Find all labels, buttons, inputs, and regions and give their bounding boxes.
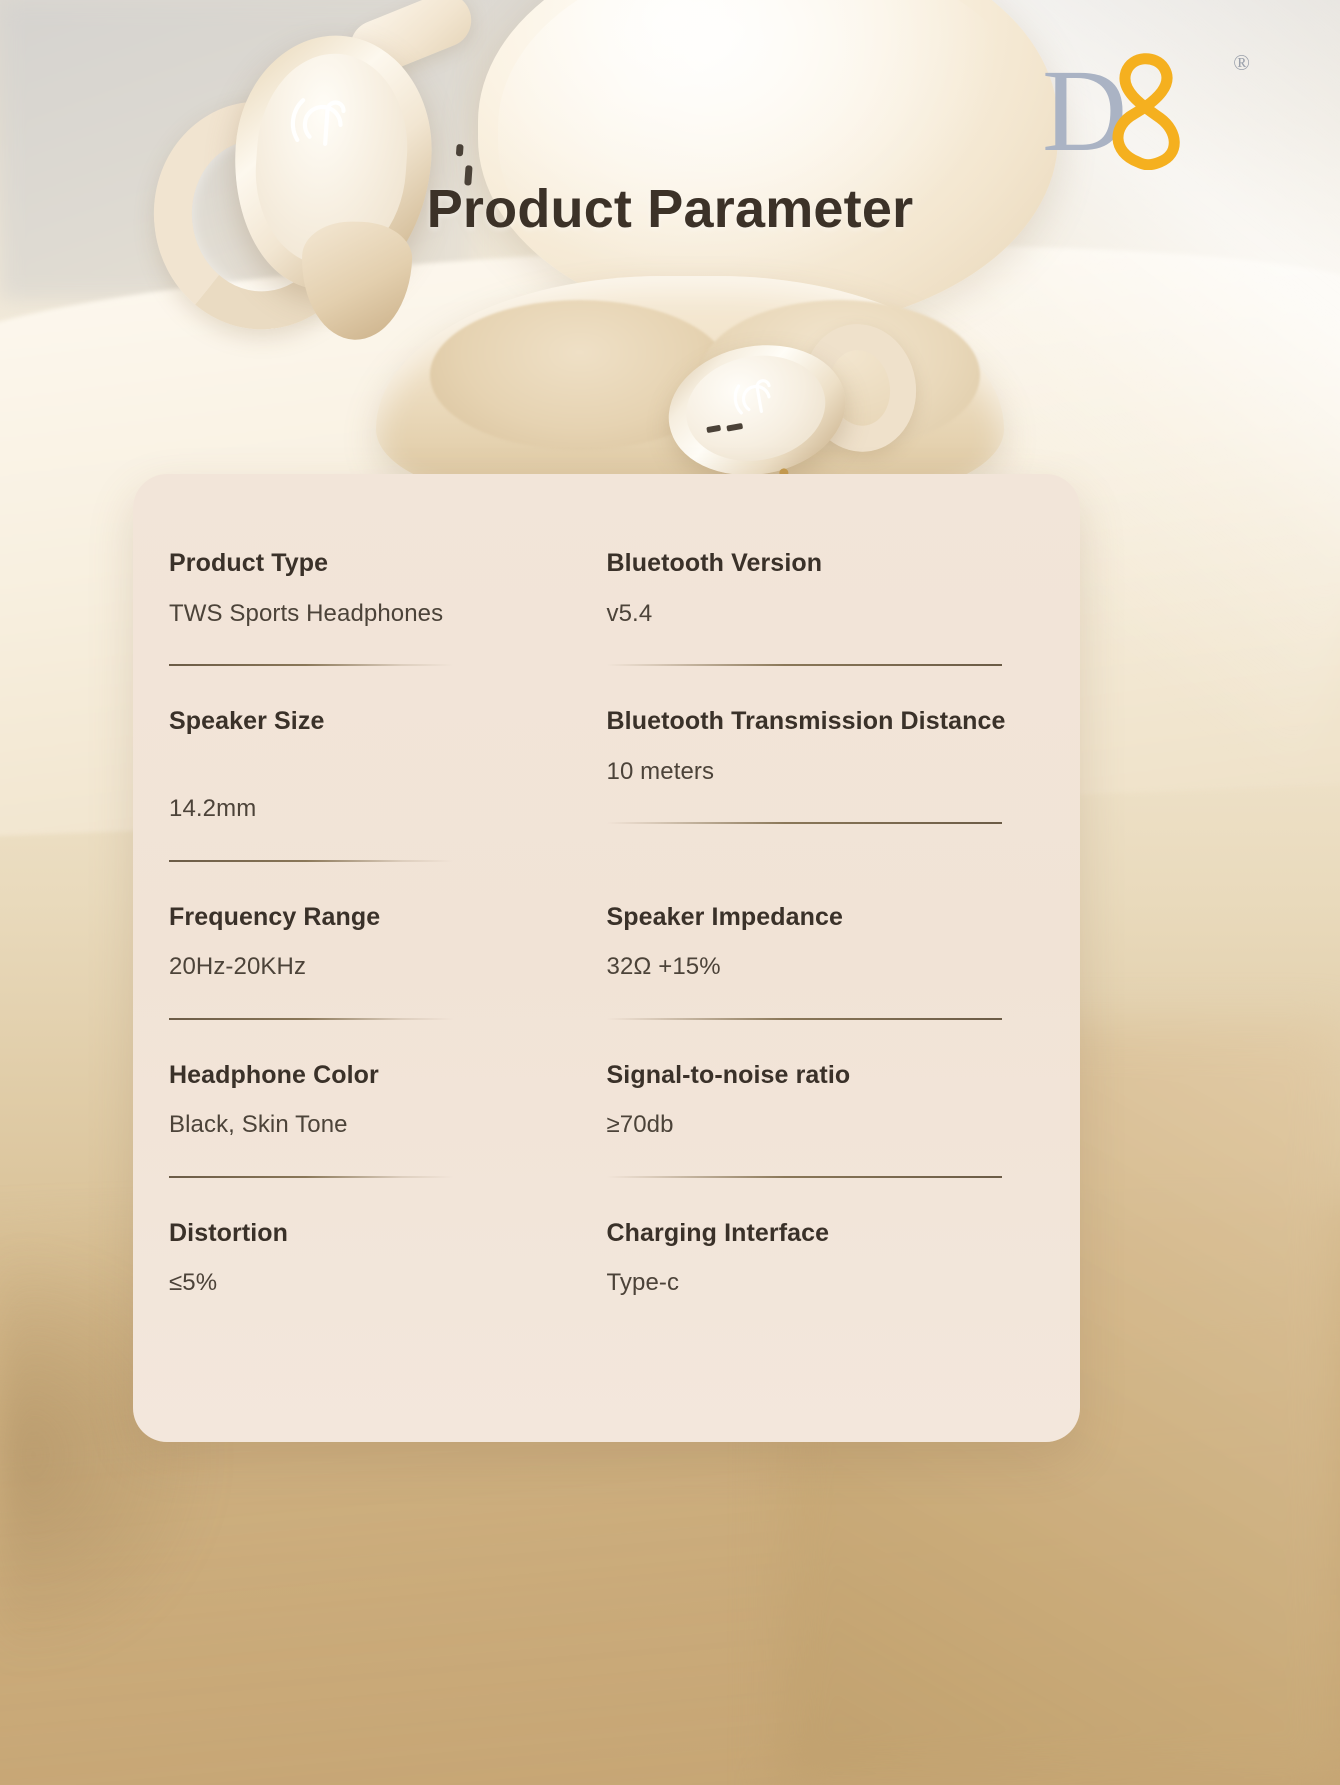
spec-value: 10 meters <box>607 755 1011 789</box>
spec-label: Speaker Size <box>169 704 573 776</box>
spec-label: Product Type <box>169 546 573 581</box>
spec-value: ≥70db <box>607 1108 1011 1142</box>
spec-cell-bluetooth-version: Bluetooth Version v5.4 <box>607 546 1045 704</box>
spec-label: Signal-to-noise ratio <box>607 1058 1011 1093</box>
spec-cell-headphone-color: Headphone Color Black, Skin Tone <box>169 1058 607 1216</box>
spec-row: Distortion ≤5% Charging Interface Type-c <box>169 1216 1044 1300</box>
specification-card: Product Type TWS Sports Headphones Bluet… <box>133 474 1080 1442</box>
spec-cell-frequency-range: Frequency Range 20Hz-20KHz <box>169 900 607 1058</box>
spec-label: Charging Interface <box>607 1216 1011 1251</box>
earbud-mic-hole <box>456 144 464 156</box>
sound-waves-icon <box>723 363 793 423</box>
row-separator <box>607 664 1003 666</box>
spec-value: TWS Sports Headphones <box>169 597 573 631</box>
spec-row: Speaker Size 14.2mm Bluetooth Transmissi… <box>169 704 1044 900</box>
spec-value: v5.4 <box>607 597 1011 631</box>
spec-value: 20Hz-20KHz <box>169 950 573 984</box>
spec-cell-charging-interface: Charging Interface Type-c <box>607 1216 1045 1300</box>
spec-cell-signal-to-noise-ratio: Signal-to-noise ratio ≥70db <box>607 1058 1045 1216</box>
spec-label: Bluetooth Transmission Distance <box>607 704 1011 739</box>
spec-cell-distortion: Distortion ≤5% <box>169 1216 607 1300</box>
brand-logo-d8: D ® <box>1042 40 1222 170</box>
svg-text:D: D <box>1042 45 1127 170</box>
spec-label: Distortion <box>169 1216 573 1251</box>
row-separator <box>169 1018 453 1020</box>
spec-label: Frequency Range <box>169 900 573 935</box>
page-title: Product Parameter <box>0 178 1340 240</box>
registered-trademark-mark: ® <box>1233 50 1250 76</box>
row-separator <box>169 1176 453 1178</box>
spec-value: Type-c <box>607 1266 1011 1300</box>
spec-cell-speaker-impedance: Speaker Impedance 32Ω +15% <box>607 900 1045 1058</box>
spec-value: 14.2mm <box>169 792 573 826</box>
spec-value: 32Ω +15% <box>607 950 1011 984</box>
spec-cell-speaker-size: Speaker Size 14.2mm <box>169 704 607 900</box>
spec-value: ≤5% <box>169 1266 573 1300</box>
spec-row: Headphone Color Black, Skin Tone Signal-… <box>169 1058 1044 1216</box>
specification-grid: Product Type TWS Sports Headphones Bluet… <box>169 546 1044 1300</box>
row-separator <box>607 822 1003 824</box>
sound-waves-icon <box>282 77 373 157</box>
row-separator <box>607 1176 1003 1178</box>
spec-row: Product Type TWS Sports Headphones Bluet… <box>169 546 1044 704</box>
spec-label: Bluetooth Version <box>607 546 1011 581</box>
row-separator <box>607 1018 1003 1020</box>
spec-label: Headphone Color <box>169 1058 573 1093</box>
spec-row: Frequency Range 20Hz-20KHz Speaker Imped… <box>169 900 1044 1058</box>
spec-cell-product-type: Product Type TWS Sports Headphones <box>169 546 607 704</box>
spec-label: Speaker Impedance <box>607 900 1011 935</box>
row-separator <box>169 664 453 666</box>
row-separator <box>169 860 453 862</box>
product-parameter-page: D ® Product Parameter Product Type TWS S… <box>0 0 1340 1785</box>
spec-cell-bluetooth-transmission-distance: Bluetooth Transmission Distance 10 meter… <box>607 704 1045 900</box>
spec-value: Black, Skin Tone <box>169 1108 573 1142</box>
